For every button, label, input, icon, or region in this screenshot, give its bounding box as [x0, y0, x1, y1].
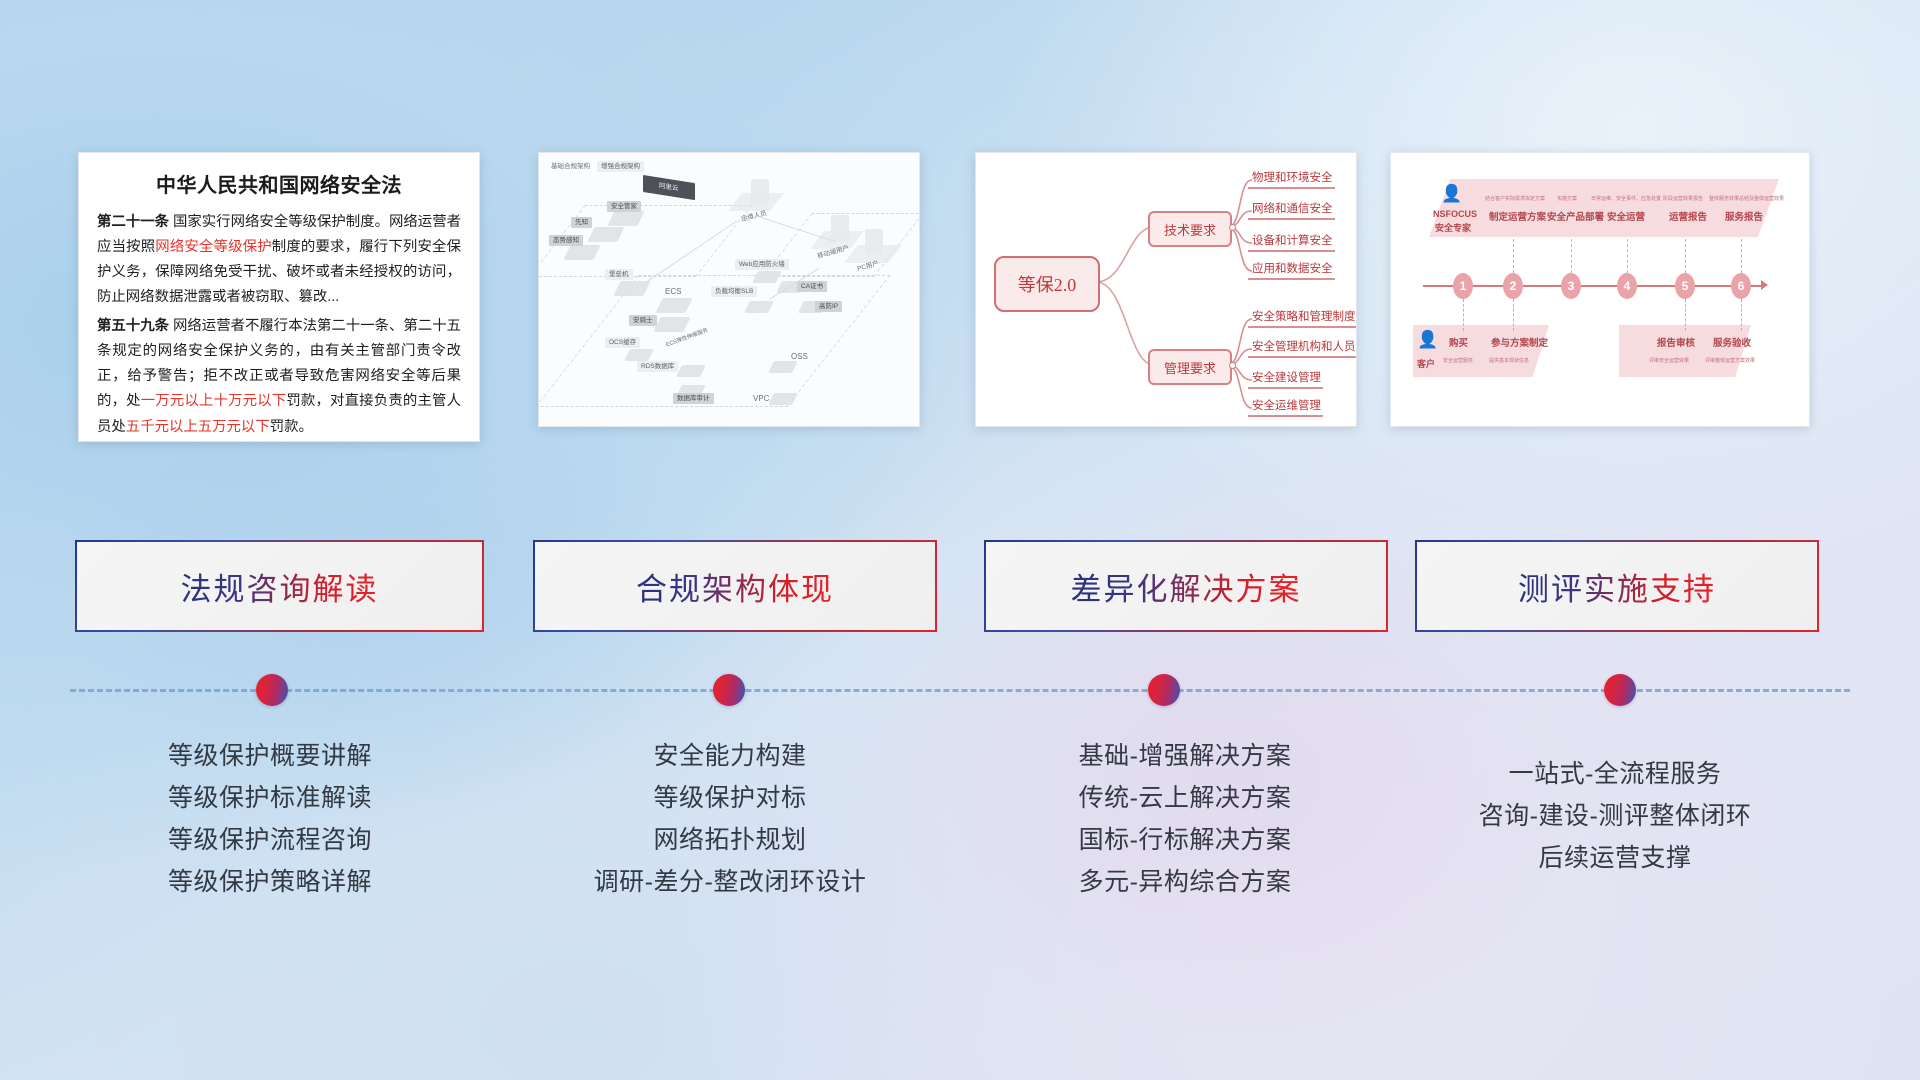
timeline-step-2-lower-sub: 提供基本现状信息	[1489, 357, 1529, 364]
title-box-1[interactable]: 法规咨询解读	[75, 540, 484, 632]
timeline-connector	[1571, 239, 1573, 273]
mindmap-node-dot	[1229, 362, 1236, 369]
timeline-step-6-lower-label: 服务验收	[1713, 335, 1751, 349]
arch-label-gaofang-ip: 高防IP	[815, 301, 842, 312]
service-timeline: 👤 NSFOCUS 安全专家 👤 客户 1 购买 安全运营服务 2 制定运营方案…	[1391, 153, 1809, 426]
arch-label-security-steward: 安全管家	[607, 201, 641, 212]
list-item: 传统-云上解决方案	[955, 777, 1415, 819]
list-item: 国标-行标解决方案	[955, 819, 1415, 861]
timeline-connector	[1627, 239, 1629, 273]
timeline-connector	[1513, 239, 1515, 273]
mindmap-leaf: 应用和数据安全	[1248, 260, 1335, 280]
architecture-diagram: 基础合规架构 增强合规架构 阿里云 安全管家 先知 态势感知 堡垒机 安骑士 E…	[539, 153, 919, 426]
arch-node-server	[865, 229, 883, 255]
timeline-step-2-upper-label: 制定运营方案	[1489, 209, 1546, 223]
expert-person-icon: 👤	[1441, 185, 1462, 202]
list-item: 一站式-全流程服务	[1415, 753, 1815, 795]
customer-person-icon: 👤	[1417, 331, 1438, 348]
timeline-step-3-upper-sub: 实施方案	[1557, 195, 1577, 202]
timeline-connector	[1685, 299, 1687, 331]
card-nsfocus-timeline: 👤 NSFOCUS 安全专家 👤 客户 1 购买 安全运营服务 2 制定运营方案…	[1390, 152, 1810, 427]
arch-label-bastion: 堡垒机	[605, 269, 633, 280]
arch-label-situation-awareness: 态势感知	[549, 235, 583, 246]
arch-label-slb: 负载均衡SLB	[711, 286, 757, 297]
list-item: 后续运营支撑	[1415, 837, 1815, 879]
law-article-number: 第五十九条	[97, 318, 169, 334]
title-box-4-inner: 测评实施支持	[1417, 542, 1817, 630]
mindmap-root: 等保2.0	[994, 256, 1100, 312]
timeline-marker-1[interactable]	[256, 674, 288, 706]
arch-label-db-audit: 数据库审计	[673, 393, 714, 404]
arch-label-anqishi: 安骑士	[629, 315, 657, 326]
title-box-2-label: 合规架构体现	[636, 564, 834, 609]
law-title: 中华人民共和国网络安全法	[97, 169, 461, 198]
timeline-marker-2[interactable]	[713, 674, 745, 706]
list-item: 多元-异构综合方案	[955, 861, 1415, 903]
mindmap-leaf: 安全建设管理	[1248, 369, 1323, 389]
timeline-customer: 客户	[1417, 357, 1435, 370]
screenshot-card-row: 中华人民共和国网络安全法 第二十一条 国家实行网络安全等级保护制度。网络运营者应…	[0, 152, 1920, 452]
list-item: 等级保护概要讲解	[60, 735, 480, 777]
timeline-connector	[1741, 239, 1743, 273]
timeline-step-6-upper-sub: 整体服务效果总结及整体运营效果	[1709, 195, 1784, 202]
mindmap: 等保2.0 技术要求 物理和环境安全 网络和通信安全 设备和计算安全 应用和数据…	[976, 153, 1356, 426]
arch-label-ecs: ECS	[661, 286, 685, 299]
feature-column-1: 等级保护概要讲解 等级保护标准解读 等级保护流程咨询 等级保护策略详解	[60, 735, 480, 903]
timeline-dashed-line	[70, 689, 1850, 692]
title-box-4[interactable]: 测评实施支持	[1415, 540, 1819, 632]
timeline-connector	[1685, 239, 1687, 273]
list-item: 网络拓扑规划	[520, 819, 940, 861]
mindmap-branch-technical: 技术要求	[1148, 211, 1232, 247]
timeline-connector	[1513, 299, 1515, 331]
law-body: 中华人民共和国网络安全法 第二十一条 国家实行网络安全等级保护制度。网络运营者应…	[79, 153, 479, 441]
arch-label-rds: RDS数据库	[637, 361, 678, 372]
timeline-marker-3[interactable]	[1148, 674, 1180, 706]
timeline-brand-sub: 安全专家	[1435, 221, 1471, 234]
law-paragraph-21: 第二十一条 国家实行网络安全等级保护制度。网络运营者应当按照网络安全等级保护制度…	[97, 210, 461, 310]
mindmap-leaf: 安全管理机构和人员	[1248, 338, 1357, 358]
timeline-step-5-lower-sub: 评审安全运营效果	[1649, 357, 1689, 364]
timeline-brand: NSFOCUS	[1433, 209, 1477, 219]
card-compliance-architecture: 基础合规架构 增强合规架构 阿里云 安全管家 先知 态势感知 堡垒机 安骑士 E…	[538, 152, 920, 427]
feature-column-2: 安全能力构建 等级保护对标 网络拓扑规划 调研-差分-整改闭环设计	[520, 735, 940, 903]
mindmap-branch-management: 管理要求	[1148, 349, 1232, 385]
mindmap-leaf: 安全运维管理	[1248, 397, 1323, 417]
timeline-step-5-upper-label: 运营报告	[1669, 209, 1707, 223]
arch-label-waf: Web应用防火墙	[735, 259, 789, 270]
timeline-marker-4[interactable]	[1604, 674, 1636, 706]
arch-label-xianzhi: 先知	[571, 217, 592, 228]
timeline-step-2-lower-label: 参与方案制定	[1491, 335, 1548, 349]
timeline-step-2: 2	[1503, 273, 1523, 299]
arch-tab-enhanced: 增强合规架构	[597, 161, 644, 172]
timeline-step-3-upper-label: 安全产品部署	[1547, 209, 1604, 223]
arch-label-ca: CA证书	[797, 281, 827, 292]
arch-cloud-banner: 阿里云	[643, 175, 695, 200]
timeline-step-1-lower-sub: 安全运营服务	[1443, 357, 1473, 364]
title-box-2[interactable]: 合规架构体现	[533, 540, 937, 632]
progress-timeline	[0, 660, 1920, 720]
title-box-4-label: 测评实施支持	[1518, 564, 1716, 609]
timeline-step-1: 1	[1453, 273, 1473, 299]
timeline-step-6-lower-sub: 评审整体运营方案效果	[1705, 357, 1755, 364]
law-seg-highlight: 一万元以上十万元以下	[141, 393, 287, 409]
title-box-1-inner: 法规咨询解读	[77, 542, 482, 630]
timeline-axis	[1423, 285, 1763, 287]
law-paragraph-59: 第五十九条 网络运营者不履行本法第二十一条、第二十五条规定的网络安全保护义务的，…	[97, 314, 461, 439]
timeline-step-1-lower-label: 购买	[1449, 335, 1468, 349]
arch-node-server	[831, 215, 849, 241]
feature-column-4: 一站式-全流程服务 咨询-建设-测评整体闭环 后续运营支撑	[1415, 753, 1815, 879]
list-item: 安全能力构建	[520, 735, 940, 777]
timeline-step-3: 3	[1561, 273, 1581, 299]
arch-tab-basic: 基础合规架构	[547, 161, 594, 172]
list-item: 基础-增强解决方案	[955, 735, 1415, 777]
title-box-3[interactable]: 差异化解决方案	[984, 540, 1388, 632]
timeline-band-customer-right	[1619, 325, 1751, 377]
timeline-connector	[1463, 299, 1465, 331]
list-item: 等级保护策略详解	[60, 861, 480, 903]
law-article-number: 第二十一条	[97, 214, 169, 230]
arch-label-vpc: VPC	[749, 393, 773, 406]
feature-list-row: 等级保护概要讲解 等级保护标准解读 等级保护流程咨询 等级保护策略详解 安全能力…	[0, 735, 1920, 1035]
arch-label-oss: OSS	[787, 351, 812, 364]
list-item: 等级保护标准解读	[60, 777, 480, 819]
mindmap-node-dot	[1229, 224, 1236, 231]
timeline-step-4: 4	[1617, 273, 1637, 299]
law-seg-highlight: 五千元以上五万元以下	[126, 419, 270, 435]
section-title-row: 法规咨询解读 合规架构体现 差异化解决方案 测评实施支持	[0, 540, 1920, 640]
list-item: 咨询-建设-测评整体闭环	[1415, 795, 1815, 837]
title-box-3-label: 差异化解决方案	[1071, 564, 1302, 609]
title-box-3-inner: 差异化解决方案	[986, 542, 1386, 630]
timeline-step-2-upper-sub: 结合客户实际需求拟定方案	[1485, 195, 1545, 202]
timeline-step-6: 6	[1731, 273, 1751, 299]
law-seg: 罚款。	[270, 419, 313, 435]
list-item: 等级保护对标	[520, 777, 940, 819]
list-item: 等级保护流程咨询	[60, 819, 480, 861]
timeline-step-5: 5	[1675, 273, 1695, 299]
timeline-arrow-icon	[1761, 280, 1768, 290]
timeline-connector	[1741, 299, 1743, 331]
title-box-1-label: 法规咨询解读	[181, 564, 379, 609]
mindmap-leaf: 设备和计算安全	[1248, 232, 1335, 252]
arch-node-server	[751, 179, 769, 205]
title-box-2-inner: 合规架构体现	[535, 542, 935, 630]
mindmap-leaf: 安全策略和管理制度	[1248, 308, 1357, 328]
law-seg-highlight: 网络安全等级保护	[155, 239, 272, 255]
timeline-step-4-upper-label: 安全运营	[1607, 209, 1645, 223]
card-cybersecurity-law: 中华人民共和国网络安全法 第二十一条 国家实行网络安全等级保护制度。网络运营者应…	[78, 152, 480, 442]
timeline-step-4-upper-sub: 日常运维、安全事件、应急处置	[1591, 195, 1661, 202]
mindmap-leaf: 网络和通信安全	[1248, 200, 1335, 220]
timeline-step-6-upper-label: 服务报告	[1725, 209, 1763, 223]
list-item: 调研-差分-整改闭环设计	[520, 861, 940, 903]
feature-column-3: 基础-增强解决方案 传统-云上解决方案 国标-行标解决方案 多元-异构综合方案	[955, 735, 1415, 903]
timeline-step-5-lower-label: 报告审核	[1657, 335, 1695, 349]
mindmap-leaf: 物理和环境安全	[1248, 169, 1335, 189]
card-dengbao-mindmap: 等保2.0 技术要求 物理和环境安全 网络和通信安全 设备和计算安全 应用和数据…	[975, 152, 1357, 427]
arch-label-ocs: OCS缓存	[605, 337, 640, 348]
timeline-band-provider	[1429, 179, 1779, 237]
timeline-step-5-upper-sub: 阶段运营效果报告	[1663, 195, 1703, 202]
